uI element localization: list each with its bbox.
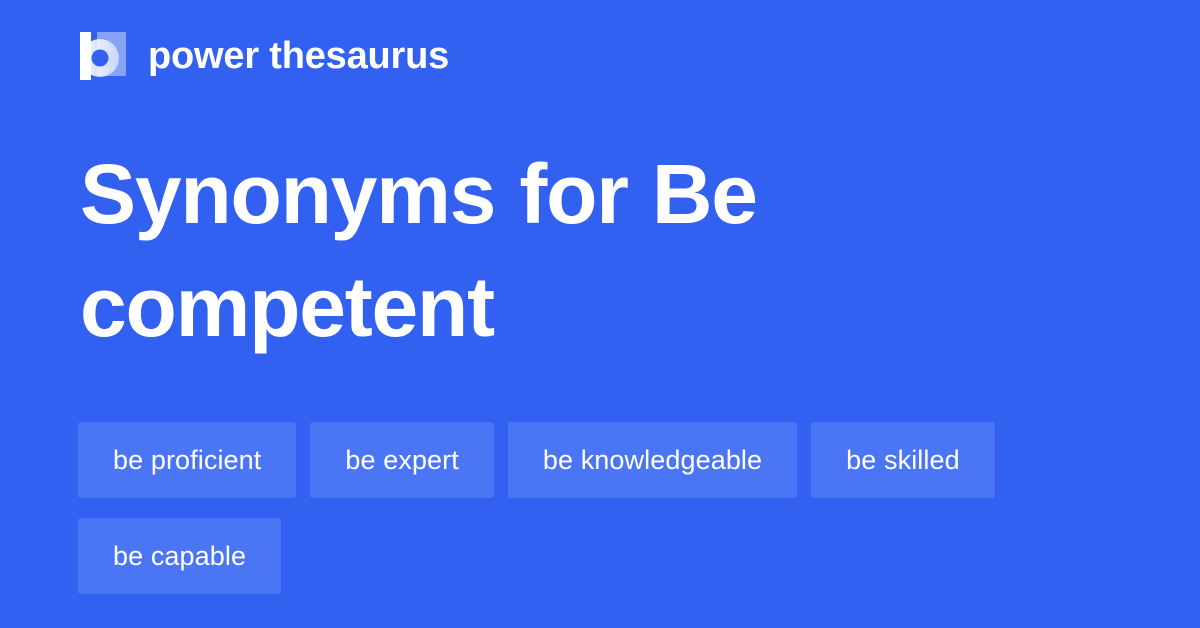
- share-card: power thesaurus Synonyms for Be competen…: [0, 0, 1200, 628]
- page-title: Synonyms for Be competent: [80, 138, 1040, 363]
- synonym-chip[interactable]: be capable: [78, 518, 281, 594]
- synonym-chip[interactable]: be skilled: [811, 422, 995, 498]
- synonym-chip[interactable]: be expert: [310, 422, 493, 498]
- power-thesaurus-logo-icon: [80, 32, 126, 80]
- synonym-chip-list: be proficient be expert be knowledgeable…: [78, 422, 1138, 594]
- brand-name: power thesaurus: [148, 37, 449, 75]
- brand-header: power thesaurus: [80, 30, 449, 82]
- synonym-chip[interactable]: be proficient: [78, 422, 296, 498]
- synonym-chip[interactable]: be knowledgeable: [508, 422, 797, 498]
